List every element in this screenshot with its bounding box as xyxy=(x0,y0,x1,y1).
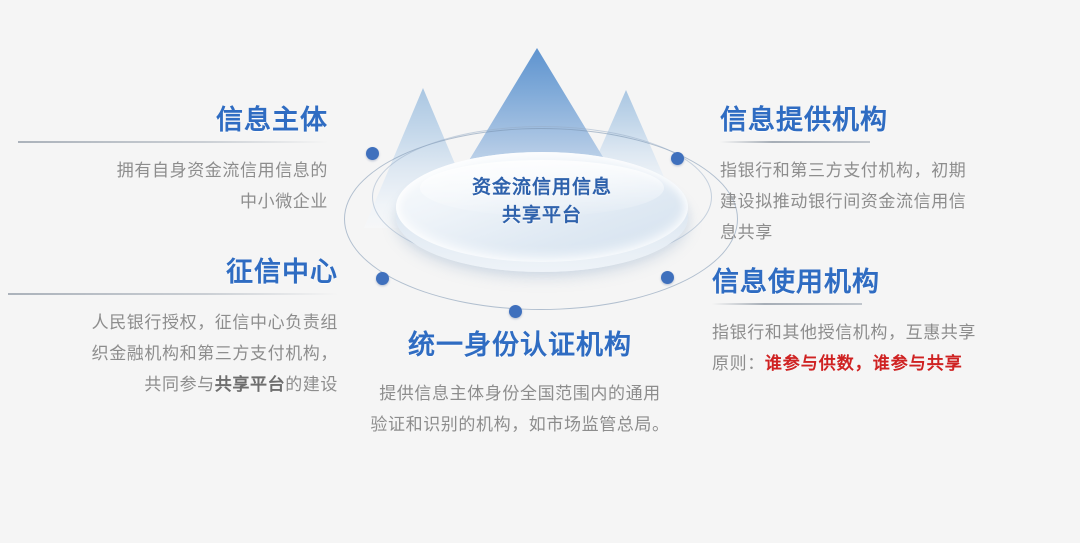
block-credit-body: 人民银行授权，征信中心负责组 织金融机构和第三方支付机构， 共同参与共享平台的建… xyxy=(8,307,338,400)
block-subject-body-line2: 中小微企业 xyxy=(18,186,328,217)
block-user-underline xyxy=(712,303,862,305)
block-provider-underline xyxy=(720,141,870,143)
block-information-user: 信息使用机构 指银行和其他授信机构，互惠共享 原则：谁参与供数，谁参与共享 xyxy=(712,265,1048,379)
block-subject-body: 拥有自身资金流信用信息的 中小微企业 xyxy=(18,155,328,217)
block-provider-title: 信息提供机构 xyxy=(720,103,1040,137)
center-graphic: 资金流信用信息 共享平台 xyxy=(300,30,780,340)
node-dot-bottom-center xyxy=(509,305,522,318)
block-credit-body-line2: 织金融机构和第三方支付机构， xyxy=(8,338,338,369)
block-user-body-line1: 指银行和其他授信机构，互惠共享 xyxy=(712,317,1048,348)
block-credit-body-line1: 人民银行授权，征信中心负责组 xyxy=(8,307,338,338)
block-user-line2-highlight: 谁参与供数，谁参与共享 xyxy=(765,354,963,373)
center-label-line2: 共享平台 xyxy=(396,202,688,230)
block-identity-body: 提供信息主体身份全国范围内的通用 验证和识别的机构，如市场监管总局。 xyxy=(342,378,698,440)
block-identity-body-line1: 提供信息主体身份全国范围内的通用 xyxy=(342,378,698,409)
block-credit-title: 征信中心 xyxy=(8,255,338,289)
center-platform-label: 资金流信用信息 共享平台 xyxy=(396,174,688,230)
block-credit-body-line3: 共同参与共享平台的建设 xyxy=(8,369,338,400)
block-provider-body: 指银行和第三方支付机构，初期 建设拟推动银行间资金流信用信 息共享 xyxy=(720,155,1040,248)
node-dot-upper-left xyxy=(366,147,379,160)
block-credit-line3-emphasis: 共享平台 xyxy=(215,375,285,394)
block-user-line2-prefix: 原则： xyxy=(712,354,765,373)
block-information-subject: 信息主体 拥有自身资金流信用信息的 中小微企业 xyxy=(18,103,328,217)
block-credit-line3-suffix: 的建设 xyxy=(285,375,338,394)
node-dot-upper-right xyxy=(671,152,684,165)
block-subject-title: 信息主体 xyxy=(18,103,328,137)
block-subject-underline xyxy=(18,141,328,143)
center-label-line1: 资金流信用信息 xyxy=(396,174,688,202)
block-subject-body-line1: 拥有自身资金流信用信息的 xyxy=(18,155,328,186)
block-information-provider: 信息提供机构 指银行和第三方支付机构，初期 建设拟推动银行间资金流信用信 息共享 xyxy=(720,103,1040,248)
infographic-canvas: 资金流信用信息 共享平台 信息主体 拥有自身资金流信用信息的 中小微企业 征信中… xyxy=(0,0,1080,543)
block-user-body-line2: 原则：谁参与供数，谁参与共享 xyxy=(712,348,1048,379)
block-credit-underline xyxy=(8,293,338,295)
block-provider-body-line3: 息共享 xyxy=(720,217,1040,248)
block-provider-body-line2: 建设拟推动银行间资金流信用信 xyxy=(720,186,1040,217)
block-credit-center: 征信中心 人民银行授权，征信中心负责组 织金融机构和第三方支付机构， 共同参与共… xyxy=(8,255,338,400)
block-identity-title: 统一身份认证机构 xyxy=(342,328,698,362)
block-identity-body-line2: 验证和识别的机构，如市场监管总局。 xyxy=(342,409,698,440)
block-user-body: 指银行和其他授信机构，互惠共享 原则：谁参与供数，谁参与共享 xyxy=(712,317,1048,379)
block-provider-body-line1: 指银行和第三方支付机构，初期 xyxy=(720,155,1040,186)
node-dot-lower-right xyxy=(661,271,674,284)
block-user-title: 信息使用机构 xyxy=(712,265,1048,299)
block-credit-line3-prefix: 共同参与 xyxy=(144,375,214,394)
node-dot-lower-left xyxy=(376,272,389,285)
block-identity-authority: 统一身份认证机构 提供信息主体身份全国范围内的通用 验证和识别的机构，如市场监管… xyxy=(342,328,698,440)
